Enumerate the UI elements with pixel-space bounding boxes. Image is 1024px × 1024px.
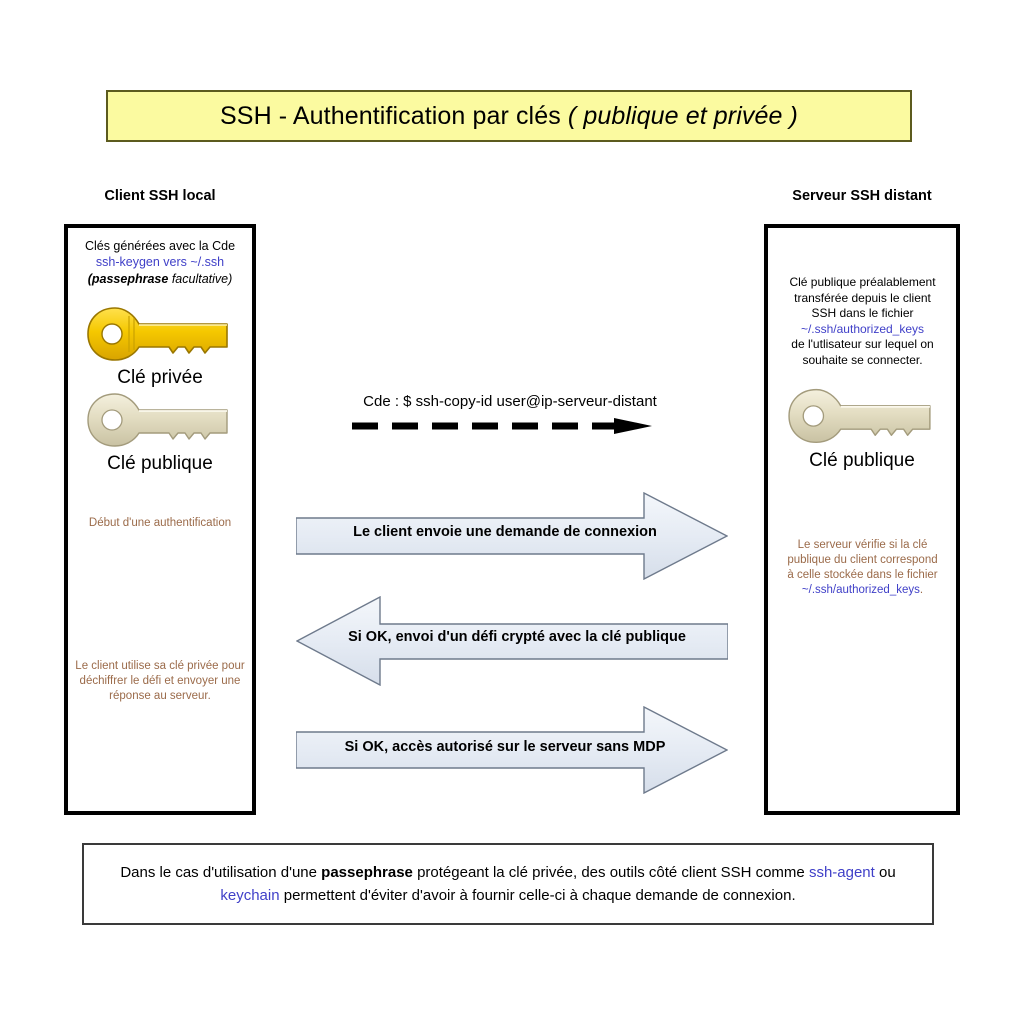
page-title-italic: ( publique et privée ) xyxy=(568,102,798,130)
passphrase-word: (passephrase xyxy=(88,272,169,286)
page-title-main: SSH - Authentification par clés xyxy=(220,102,561,130)
private-key-label: Clé privée xyxy=(72,367,248,389)
ssh-copy-id-command-label: Cde : $ ssh-copy-id user@ip-serveur-dist… xyxy=(300,393,720,410)
key-icon xyxy=(786,385,938,449)
server-public-key-figure: Clé publique xyxy=(772,385,952,472)
server-verify-line1: Le serveur vérifie si la clé xyxy=(770,538,955,553)
server-verify-line2: publique du client correspond xyxy=(770,553,955,568)
authorized-keys-path: ~/.ssh/authorized_keys xyxy=(802,584,920,596)
client-decrypt-note: Le client utilise sa clé privée pour déc… xyxy=(70,659,250,704)
note-part3: ou xyxy=(875,864,896,881)
client-keygen-line3: (passephrase facultative) xyxy=(70,271,250,287)
server-public-key-label: Clé publique xyxy=(772,450,952,472)
passphrase-qualifier: facultative) xyxy=(168,272,232,286)
ssh-agent-link[interactable]: ssh-agent xyxy=(809,864,875,881)
server-pubkey-note: Clé publique préalablement transférée de… xyxy=(770,275,955,369)
title-banner: SSH - Authentification par clés ( publiq… xyxy=(106,90,912,142)
flow-arrow-3-label: Si OK, accès autorisé sur le serveur san… xyxy=(300,739,710,755)
note-part2: protégeant la clé privée, des outils côt… xyxy=(413,864,809,881)
page-title: SSH - Authentification par clés ( publiq… xyxy=(220,102,798,131)
client-public-key-label: Clé publique xyxy=(72,453,248,475)
server-verify-line4: ~/.ssh/authorized_keys. xyxy=(770,583,955,598)
client-keygen-line1: Clés générées avec la Cde xyxy=(70,238,250,254)
ssh-keygen-command: ssh-keygen xyxy=(96,255,160,269)
keychain-link[interactable]: keychain xyxy=(220,887,279,904)
server-pubkey-line6: souhaite se connecter. xyxy=(770,353,955,369)
private-key-figure: Clé privée xyxy=(72,304,248,389)
server-pubkey-line1: Clé publique préalablement xyxy=(770,275,955,291)
client-keygen-note: Clés générées avec la Cde ssh-keygen ver… xyxy=(70,238,250,287)
client-public-key-figure: Clé publique xyxy=(72,390,248,475)
note-passphrase-bold: passephrase xyxy=(321,864,413,881)
footer-note-text: Dans le cas d'utilisation d'une passephr… xyxy=(98,861,918,908)
footer-note-box: Dans le cas d'utilisation d'une passephr… xyxy=(82,843,934,925)
server-verify-note: Le serveur vérifie si la clé publique du… xyxy=(770,538,955,598)
authorized-keys-path: ~/.ssh/authorized_keys xyxy=(770,322,955,338)
server-column-header: Serveur SSH distant xyxy=(764,188,960,204)
flow-arrow-2-label: Si OK, envoi d'un défi crypté avec la cl… xyxy=(312,629,722,645)
key-icon xyxy=(85,304,235,366)
client-keygen-line2: ssh-keygen vers ~/.ssh xyxy=(70,254,250,270)
server-verify-period: . xyxy=(920,584,923,596)
flow-arrow-1-label: Le client envoie une demande de connexio… xyxy=(300,524,710,540)
server-pubkey-line3: SSH dans le fichier xyxy=(770,306,955,322)
server-pubkey-line2: transférée depuis le client xyxy=(770,291,955,307)
ssh-keygen-path: vers ~/.ssh xyxy=(160,255,224,269)
server-verify-line3: à celle stockée dans le fichier xyxy=(770,568,955,583)
server-pubkey-line5: de l'utlisateur sur lequel on xyxy=(770,337,955,353)
client-auth-start-note: Début d'une authentification xyxy=(70,516,250,531)
note-part4: permettent d'éviter d'avoir à fournir ce… xyxy=(280,887,796,904)
note-part1: Dans le cas d'utilisation d'une xyxy=(120,864,321,881)
client-column-header: Client SSH local xyxy=(64,188,256,204)
key-icon xyxy=(85,390,235,452)
ssh-copy-id-arrow xyxy=(352,418,652,434)
